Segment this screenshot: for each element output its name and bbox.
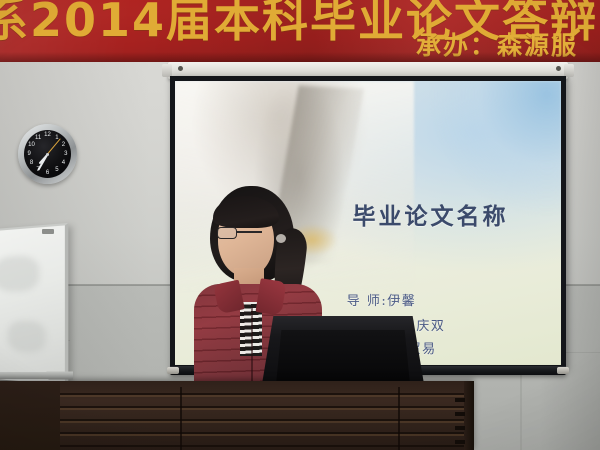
wall-clock: 12 1 2 3 4 5 6 7 8 9 10 11 <box>18 124 77 184</box>
clock-second-hand <box>47 138 61 154</box>
wooden-podium <box>0 381 474 450</box>
podium-notch <box>455 398 465 402</box>
clock-numeral: 9 <box>27 151 30 157</box>
roller-bracket-right <box>556 66 561 71</box>
clock-numeral: 8 <box>30 160 33 166</box>
whiteboard-smudge <box>0 255 39 292</box>
clock-numeral: 10 <box>28 142 35 148</box>
slide-title: 毕业论文名称 <box>353 197 509 231</box>
banner-organizer-text: 承办：森源服 <box>416 26 578 62</box>
clock-numeral: 6 <box>46 170 49 176</box>
podium-right-edge <box>464 381 474 450</box>
whiteboard-smudge <box>8 320 46 353</box>
hair-tie <box>276 234 286 243</box>
computer-monitor <box>262 316 424 384</box>
clock-numeral: 12 <box>44 132 51 138</box>
podium-left-panel <box>0 381 60 450</box>
clock-center-pin <box>46 153 49 156</box>
monitor-rear-panel <box>276 330 410 384</box>
clock-numeral: 2 <box>62 142 65 148</box>
screen-bar-cap-right <box>557 367 569 374</box>
glasses-temple-arm <box>236 231 262 233</box>
podium-notch <box>455 426 465 430</box>
clock-numeral: 5 <box>55 167 58 173</box>
jacket-zipper <box>251 306 253 386</box>
clock-numeral: 3 <box>64 151 67 157</box>
red-congratulation-banner: 系2014届本科毕业论文答辩 承办：森源服 <box>0 0 600 62</box>
clock-numeral: 4 <box>62 160 65 166</box>
classroom-defense-photo: 系2014届本科毕业论文答辩 承办：森源服 毕业论文名称 导 师:伊馨 答辩人:… <box>0 0 600 450</box>
slide-advisor-line: 导 师:伊馨 <box>347 290 417 309</box>
clock-numeral: 11 <box>35 135 41 141</box>
podium-notch <box>455 440 465 444</box>
roller-bracket-left <box>178 66 183 71</box>
whiteboard-clip <box>42 229 54 234</box>
glasses-lens <box>217 227 237 239</box>
podium-notch <box>455 412 465 416</box>
whiteboard-marker-tray <box>0 372 73 380</box>
whiteboard <box>0 223 68 385</box>
clock-face: 12 1 2 3 4 5 6 7 8 9 10 11 <box>24 130 71 178</box>
screen-bar-cap-left <box>167 367 179 374</box>
